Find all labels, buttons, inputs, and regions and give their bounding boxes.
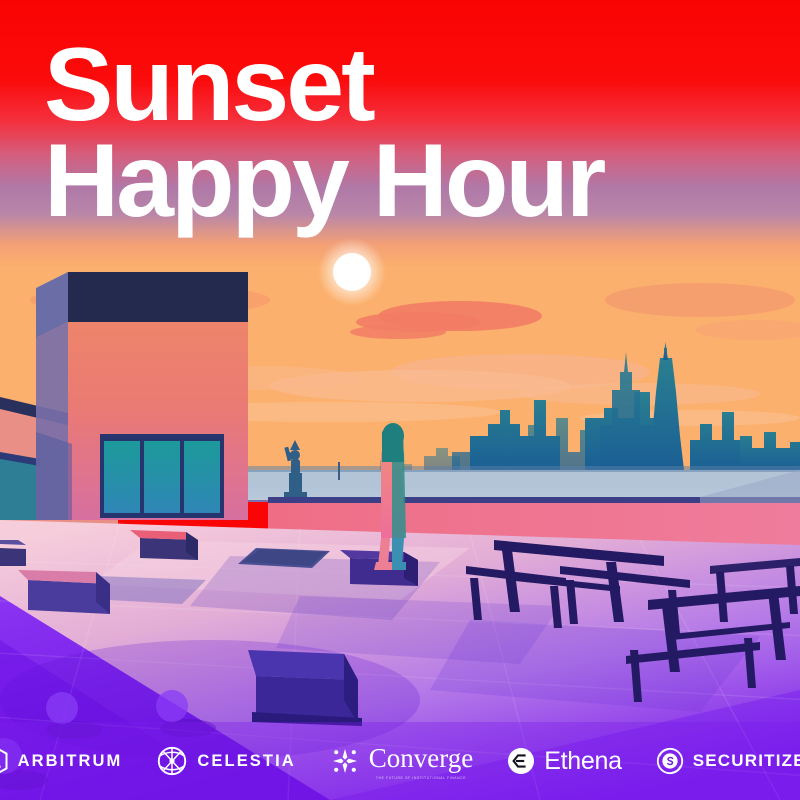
rooftop-building [0, 272, 248, 553]
sponsor-celestia[interactable]: CELESTIA [156, 745, 295, 777]
sponsor-logo-bar: ARBITRUM CELESTIA [0, 722, 800, 800]
sponsor-label-ethena: Ethena [544, 747, 621, 776]
sponsor-securitize[interactable]: SECURITIZE ® [656, 747, 800, 775]
concrete-block [352, 556, 398, 576]
celestia-logo-icon [156, 745, 188, 777]
concrete-block-foreground [248, 650, 362, 726]
sponsor-arbitrum[interactable]: ARBITRUM [0, 745, 122, 777]
sponsor-label-securitize: SECURITIZE [693, 751, 800, 771]
event-poster: Sunset Happy Hour ARBITRUM [0, 0, 800, 800]
sponsor-ethena[interactable]: Ethena [507, 747, 621, 776]
ethena-logo-icon [507, 747, 535, 775]
poster-illustration [0, 0, 800, 800]
sponsor-tagline-converge: THE FUTURE OF INSTITUTIONAL FINANCE [369, 776, 473, 780]
concrete-block [18, 570, 110, 614]
sponsor-label-converge: Converge [369, 743, 473, 773]
sponsor-converge[interactable]: Converge THE FUTURE OF INSTITUTIONAL FIN… [330, 743, 473, 780]
securitize-logo-icon [656, 747, 684, 775]
sponsor-label-celestia: CELESTIA [197, 752, 295, 771]
converge-logo-icon [330, 746, 360, 776]
concrete-block [130, 530, 198, 560]
concrete-block [0, 540, 26, 566]
sponsor-label-arbitrum: ARBITRUM [18, 752, 123, 771]
arbitrum-logo-icon [0, 745, 9, 777]
distant-mast [338, 462, 340, 480]
